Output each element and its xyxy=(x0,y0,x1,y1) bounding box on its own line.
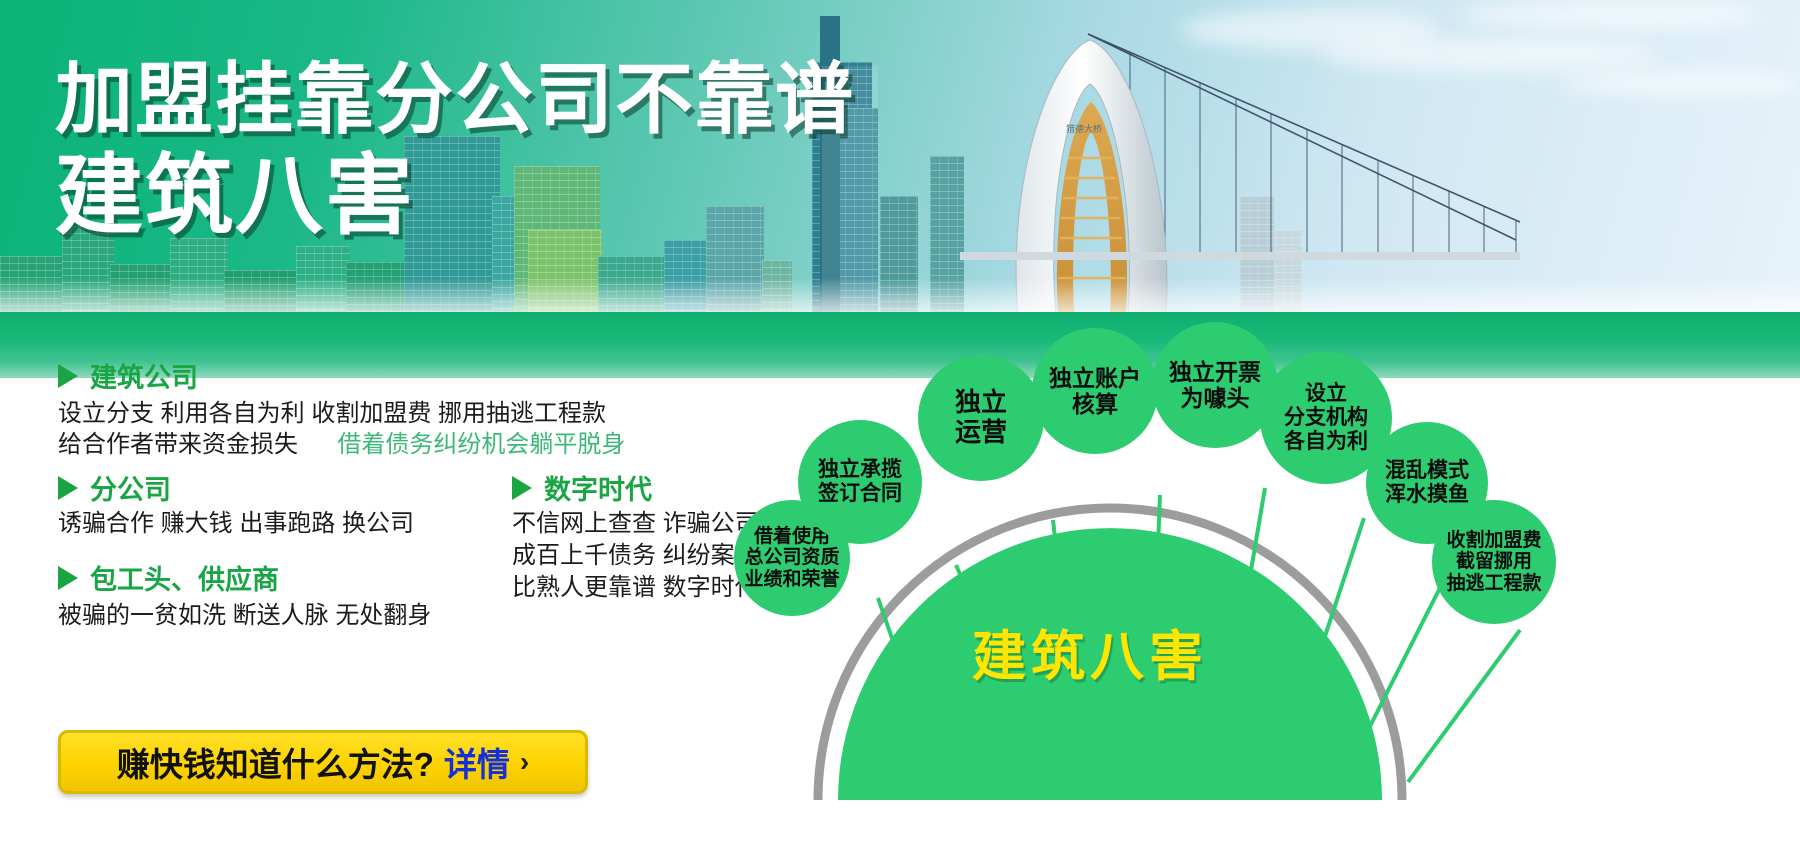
section-heading-branch-company: 分公司 xyxy=(58,468,171,507)
section-body-construction-company: 设立分支 利用各自为利 收割加盟费 挪用抽逃工程款 给合作者带来资金损失 借着债… xyxy=(58,398,625,460)
bubble-item: 独立承揽 签订合同 xyxy=(798,420,922,544)
cta-question-label: 赚快钱知道什么方法? xyxy=(117,738,434,786)
bubble-line: 浑水摸鱼 xyxy=(1385,483,1469,507)
section-heading-label: 数字时代 xyxy=(544,468,652,507)
bubble-line: 业绩和荣誉 xyxy=(744,569,839,591)
hero-title: 加盟挂靠分公司不靠谱 建筑八害 xyxy=(55,60,855,240)
section-body-contractor-supplier: 被骗的一贫如洗 断送人脉 无处翻身 xyxy=(58,600,431,631)
body-line-text: 给合作者带来资金损失 xyxy=(58,431,298,458)
bubble-line: 为噱头 xyxy=(1181,385,1250,411)
cta-link-label[interactable]: 详情 xyxy=(444,738,510,786)
section-heading-label: 分公司 xyxy=(90,468,171,507)
bubble-line: 签订合同 xyxy=(818,482,902,506)
section-body-digital-era: 不信网上查查 诈骗公司 成百上千债务 纠纷案件 比熟人更靠谱 数字时代 xyxy=(512,508,759,604)
bubble-line: 混乱模式 xyxy=(1385,459,1469,483)
body-line: 比熟人更靠谱 数字时代 xyxy=(512,572,759,604)
bubble-line: 独立承揽 xyxy=(818,458,902,482)
bubble-line: 运营 xyxy=(955,418,1007,448)
bubble-item: 独立账户 核算 xyxy=(1032,328,1158,454)
body-line: 诱骗合作 赚大钱 出事跑路 换公司 xyxy=(58,508,414,539)
body-line: 成百上千债务 纠纷案件 xyxy=(512,540,759,572)
section-heading-label: 建筑公司 xyxy=(90,356,198,395)
body-line: 被骗的一贫如洗 断送人脉 无处翻身 xyxy=(58,600,431,631)
section-heading-label: 包工头、供应商 xyxy=(90,558,279,597)
bridge-sign-label: 猎德大桥 xyxy=(1066,123,1102,134)
bubble-line: 独立账户 xyxy=(1049,365,1141,391)
bubble-line: 独立 xyxy=(955,388,1007,418)
bridge-illustration: 猎德大桥 xyxy=(960,26,1520,316)
body-line-with-accent: 给合作者带来资金损失 借着债务纠纷机会躺平脱身 xyxy=(58,429,625,460)
section-heading-construction-company: 建筑公司 xyxy=(58,356,198,395)
chevron-right-icon: › xyxy=(520,746,529,778)
dome-label: 建筑八害 xyxy=(972,612,1208,691)
cloud-decoration xyxy=(1560,70,1800,96)
bubble-line: 分支机构 xyxy=(1284,406,1368,430)
bubble-line: 独立开票 xyxy=(1169,359,1261,385)
body-line: 设立分支 利用各自为利 收割加盟费 挪用抽逃工程款 xyxy=(58,398,625,429)
cta-button[interactable]: 赚快钱知道什么方法? 详情 › xyxy=(58,730,588,794)
body-line-accent: 借着债务纠纷机会躺平脱身 xyxy=(337,431,625,458)
bubble-line: 设立 xyxy=(1305,382,1347,406)
section-body-branch-company: 诱骗合作 赚大钱 出事跑路 换公司 xyxy=(58,508,414,539)
hero-title-line-2: 建筑八害 xyxy=(55,152,855,240)
bubble-line: 核算 xyxy=(1072,391,1118,417)
section-heading-digital-era: 数字时代 xyxy=(512,468,652,507)
body-line: 不信网上查查 诈骗公司 xyxy=(512,508,759,540)
hero-banner: 猎德大桥 加盟挂靠分公司不靠谱 建筑八害 xyxy=(0,0,1800,378)
section-heading-contractor-supplier: 包工头、供应商 xyxy=(58,558,279,597)
triangle-bullet-icon xyxy=(58,476,78,500)
bubble-item: 独立开票 为噱头 xyxy=(1152,322,1278,448)
bubble-line: 总公司资质 xyxy=(744,547,839,569)
bubble-line: 截留挪用 xyxy=(1456,551,1532,573)
bubble-item: 独立 运营 xyxy=(918,355,1044,481)
bubble-line: 收割加盟费 xyxy=(1446,530,1541,552)
triangle-bullet-icon xyxy=(58,566,78,590)
bubble-item: 收割加盟费 截留挪用 抽逃工程款 xyxy=(1432,500,1556,624)
triangle-bullet-icon xyxy=(512,476,532,500)
bubble-diagram: 借着使用 总公司资质 业绩和荣誉 独立承揽 签订合同 独立 运营 独立账户 核算… xyxy=(760,330,1800,844)
hero-title-line-1: 加盟挂靠分公司不靠谱 xyxy=(55,60,855,138)
triangle-bullet-icon xyxy=(58,364,78,388)
bubble-line: 各自为利 xyxy=(1284,430,1368,454)
bubble-line: 抽逃工程款 xyxy=(1446,573,1541,595)
